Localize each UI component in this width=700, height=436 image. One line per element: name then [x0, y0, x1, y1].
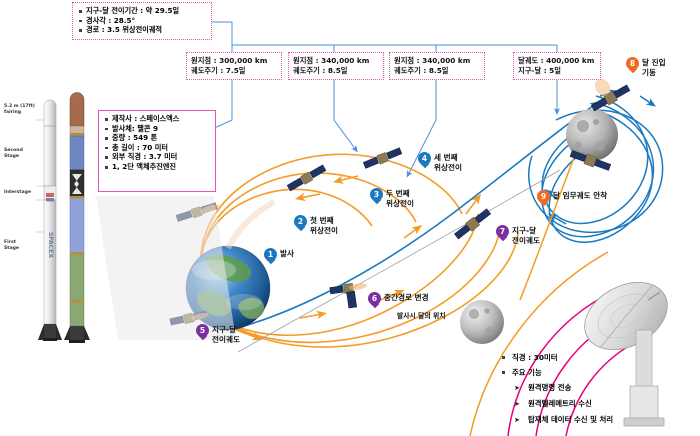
earth-globe — [186, 246, 270, 330]
step-label-7: 지구-달 전이궤도 — [512, 225, 540, 245]
step-pin-6[interactable]: 6 중간경로 변경 — [368, 292, 429, 308]
orbit-box-2-apogee: 원지점 : 340,000 km — [293, 56, 379, 66]
antenna-diameter: 직경 : 30미터 — [500, 350, 696, 365]
transfer-item: 경사각 : 28.5° — [78, 16, 205, 26]
step-badge-7: 7 — [496, 225, 509, 241]
transfer-item: 지구-달 전이기간 : 약 29.5일 — [78, 6, 205, 16]
step-pin-4[interactable]: 4 세 번째 위상전이 — [418, 152, 462, 172]
orbit-box-1-period: 궤도주기 : 7.5일 — [191, 66, 277, 76]
antenna-function-1: 원격명령 전송 — [500, 380, 696, 396]
step-badge-6: 6 — [368, 292, 381, 308]
moon-at-launch-caption: 발사시 달의 위치 — [397, 310, 446, 320]
rocket-label-second-stage: Second Stage — [4, 148, 23, 159]
step-label-5: 지구-달 전이궤도 — [212, 324, 240, 344]
launcher-item: 외부 직경 : 3.7 미터 — [104, 152, 209, 162]
step-badge-3: 3 — [370, 188, 383, 204]
step-label-6: 중간경로 변경 — [384, 292, 429, 303]
step-pin-2[interactable]: 2 첫 번째 위상전이 — [294, 215, 338, 235]
transfer-summary-box: 지구-달 전이기간 : 약 29.5일 경사각 : 28.5° 경로 : 3.5… — [72, 2, 212, 40]
launcher-item: 발사체: 팰콘 9 — [104, 124, 209, 134]
launcher-item: 제작사 : 스페이스엑스 — [104, 114, 209, 124]
moon-at-launch — [460, 300, 504, 344]
orbit-box-2: 원지점 : 340,000 km 궤도주기 : 8.5일 — [288, 52, 384, 80]
antenna-function-2: 원격텔레메트리 수신 — [500, 396, 696, 412]
step-pin-5[interactable]: 5 지구-달 전이궤도 — [196, 324, 240, 344]
transfer-item: 경로 : 3.5 위상전이궤적 — [78, 25, 205, 35]
orbit-box-3-period: 궤도주기 : 8.5일 — [394, 66, 480, 76]
orbit-box-2-period: 궤도주기 : 8.5일 — [293, 66, 379, 76]
step-label-8: 달 진입 기동 — [642, 57, 666, 77]
step-label-9: 달 임무궤도 안착 — [553, 190, 607, 201]
antenna-functions-title: 주요 기능 — [500, 365, 696, 380]
step-pin-9[interactable]: 9 달 임무궤도 안착 — [537, 190, 607, 206]
rocket-label-fairing: 5.2 m (17ft) fairing — [4, 104, 35, 115]
infographic-canvas: 지구-달 전이기간 : 약 29.5일 경사각 : 28.5° 경로 : 3.5… — [0, 0, 700, 436]
step-label-3: 두 번째 위상전이 — [386, 188, 414, 208]
launcher-item: 총 길이 : 70 미터 — [104, 143, 209, 153]
orbit-box-moon-distance: 달궤도 : 400,000 km — [518, 56, 596, 66]
step-badge-1: 1 — [264, 248, 277, 264]
launcher-item: 중량 : 549 톤 — [104, 133, 209, 143]
spacex-wordmark: SPACEX — [47, 232, 54, 258]
orbit-box-moon: 달궤도 : 400,000 km 지구-달 : 5일 — [513, 52, 601, 80]
step-pin-7[interactable]: 7 지구-달 전이궤도 — [496, 225, 540, 245]
step-pin-1[interactable]: 1 발사 — [264, 248, 294, 264]
orbit-box-3-apogee: 원지점 : 340,000 km — [394, 56, 480, 66]
orbit-box-3: 원지점 : 340,000 km 궤도주기 : 8.5일 — [389, 52, 485, 80]
step-badge-8: 8 — [626, 57, 639, 73]
step-badge-9: 9 — [537, 190, 550, 206]
antenna-spec-list: 직경 : 30미터 주요 기능 원격명령 전송 원격텔레메트리 수신 탑재체 데… — [500, 350, 696, 428]
rocket-label-first-stage: First Stage — [4, 240, 19, 251]
step-badge-2: 2 — [294, 215, 307, 231]
step-label-1: 발사 — [280, 248, 294, 259]
step-label-4: 세 번째 위상전이 — [434, 152, 462, 172]
step-badge-4: 4 — [418, 152, 431, 168]
step-pin-8[interactable]: 8 달 진입 기동 — [626, 57, 666, 77]
orbit-box-moon-duration: 지구-달 : 5일 — [518, 66, 596, 76]
rocket-label-interstage: Interstage — [4, 190, 31, 196]
step-pin-3[interactable]: 3 두 번째 위상전이 — [370, 188, 414, 208]
orbit-box-1: 원지점 : 300,000 km 궤도주기 : 7.5일 — [186, 52, 282, 80]
antenna-function-3: 탑재체 데이터 수신 및 처리 — [500, 412, 696, 428]
orbit-box-1-apogee: 원지점 : 300,000 km — [191, 56, 277, 66]
launcher-spec-box: 제작사 : 스페이스엑스 발사체: 팰콘 9 중량 : 549 톤 총 길이 :… — [98, 110, 216, 192]
falcon9-rocket — [38, 100, 62, 341]
cutaway-rocket — [64, 93, 90, 344]
launcher-item: 1, 2단 액체추진엔진 — [104, 162, 209, 172]
step-badge-5: 5 — [196, 324, 209, 340]
moon-target — [566, 109, 618, 161]
step-label-2: 첫 번째 위상전이 — [310, 215, 338, 235]
